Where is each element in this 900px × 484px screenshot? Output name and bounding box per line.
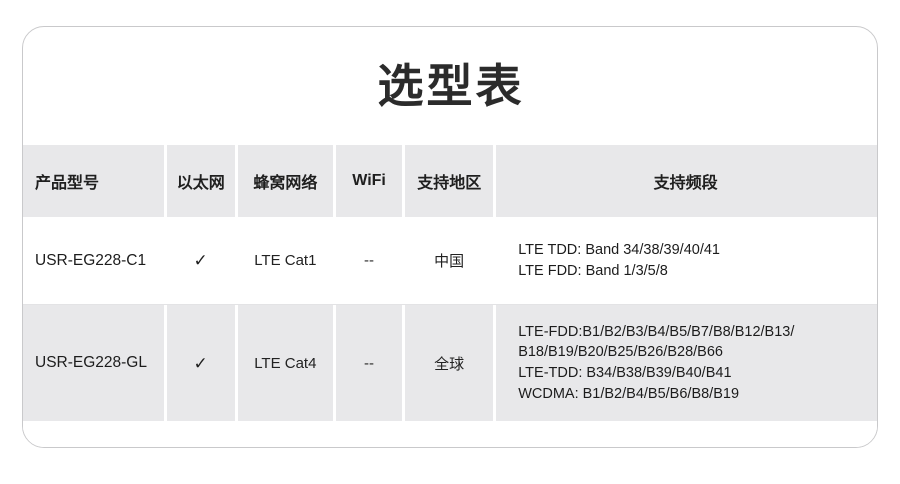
column-header-wifi: WiFi [336, 145, 402, 217]
selection-table: 产品型号 以太网 蜂窝网络 WiFi 支持地区 支持频段 USR-EG228-C… [23, 145, 878, 448]
cell-ethernet: ✓ [167, 421, 235, 448]
title-container: 选型表 [23, 27, 878, 145]
cell-model: USR-EG228-EW [23, 421, 164, 448]
band-line: LTE-TDD: B34/B38/B39/B40/B41 [518, 363, 794, 384]
band-line-list: -- [518, 444, 528, 448]
cell-model: USR-EG228-C1 [23, 217, 164, 304]
cell-wifi: -- [336, 305, 402, 421]
band-line-list: LTE TDD: Band 34/38/39/40/41 LTE FDD: Ba… [518, 240, 720, 281]
check-icon: ✓ [194, 355, 208, 372]
column-header-model: 产品型号 [23, 145, 164, 217]
cell-cellular: -- [238, 421, 333, 448]
check-icon: ✓ [194, 446, 208, 448]
cell-cellular: LTE Cat4 [238, 305, 333, 421]
cell-bands: LTE TDD: Band 34/38/39/40/41 LTE FDD: Ba… [496, 217, 878, 304]
table-header-row: 产品型号 以太网 蜂窝网络 WiFi 支持地区 支持频段 [23, 145, 878, 217]
band-line: LTE-FDD:B1/B2/B3/B4/B5/B7/B8/B12/B13/ [518, 322, 794, 343]
column-header-region: 支持地区 [405, 145, 493, 217]
cell-region: 全球 [405, 305, 493, 421]
band-line: LTE FDD: Band 1/3/5/8 [518, 261, 720, 282]
column-header-ethernet: 以太网 [167, 145, 235, 217]
cell-model: USR-EG228-GL [23, 305, 164, 421]
cell-wifi: 2.4GHz [336, 421, 402, 448]
page-root: 选型表 产品型号 以太网 蜂窝网络 WiFi 支持地区 支持频段 USR-EG2… [0, 0, 900, 484]
cell-bands: LTE-FDD:B1/B2/B3/B4/B5/B7/B8/B12/B13/ B1… [496, 305, 878, 421]
dash-placeholder: -- [364, 355, 374, 372]
table-row: USR-EG228-GL ✓ LTE Cat4 -- 全球 LTE-FDD:B1… [23, 305, 878, 421]
check-icon: ✓ [194, 252, 208, 269]
cell-region: 中国 [405, 217, 493, 304]
dash-placeholder: -- [280, 446, 290, 448]
dash-placeholder: -- [518, 444, 528, 448]
band-line: WCDMA: B1/B2/B4/B5/B6/B8/B19 [518, 384, 794, 405]
column-header-cellular: 蜂窝网络 [238, 145, 333, 217]
cell-region: 全球 [405, 421, 493, 448]
band-line: B18/B19/B20/B25/B26/B28/B66 [518, 342, 794, 363]
dash-placeholder: -- [364, 252, 374, 269]
cell-ethernet: ✓ [167, 217, 235, 304]
selection-table-card: 选型表 产品型号 以太网 蜂窝网络 WiFi 支持地区 支持频段 USR-EG2… [22, 26, 878, 448]
band-line: LTE TDD: Band 34/38/39/40/41 [518, 240, 720, 261]
band-line-list: LTE-FDD:B1/B2/B3/B4/B5/B7/B8/B12/B13/ B1… [518, 322, 794, 404]
cell-cellular: LTE Cat1 [238, 217, 333, 304]
cell-ethernet: ✓ [167, 305, 235, 421]
cell-bands: -- [496, 421, 878, 448]
cell-wifi: -- [336, 217, 402, 304]
column-header-bands: 支持频段 [496, 145, 878, 217]
page-title: 选型表 [378, 63, 525, 109]
table-row: USR-EG228-C1 ✓ LTE Cat1 -- 中国 LTE TDD: B… [23, 217, 878, 304]
table-row: USR-EG228-EW ✓ -- 2.4GHz 全球 -- [23, 421, 878, 448]
column-header-bands-label: 支持频段 [654, 169, 718, 193]
